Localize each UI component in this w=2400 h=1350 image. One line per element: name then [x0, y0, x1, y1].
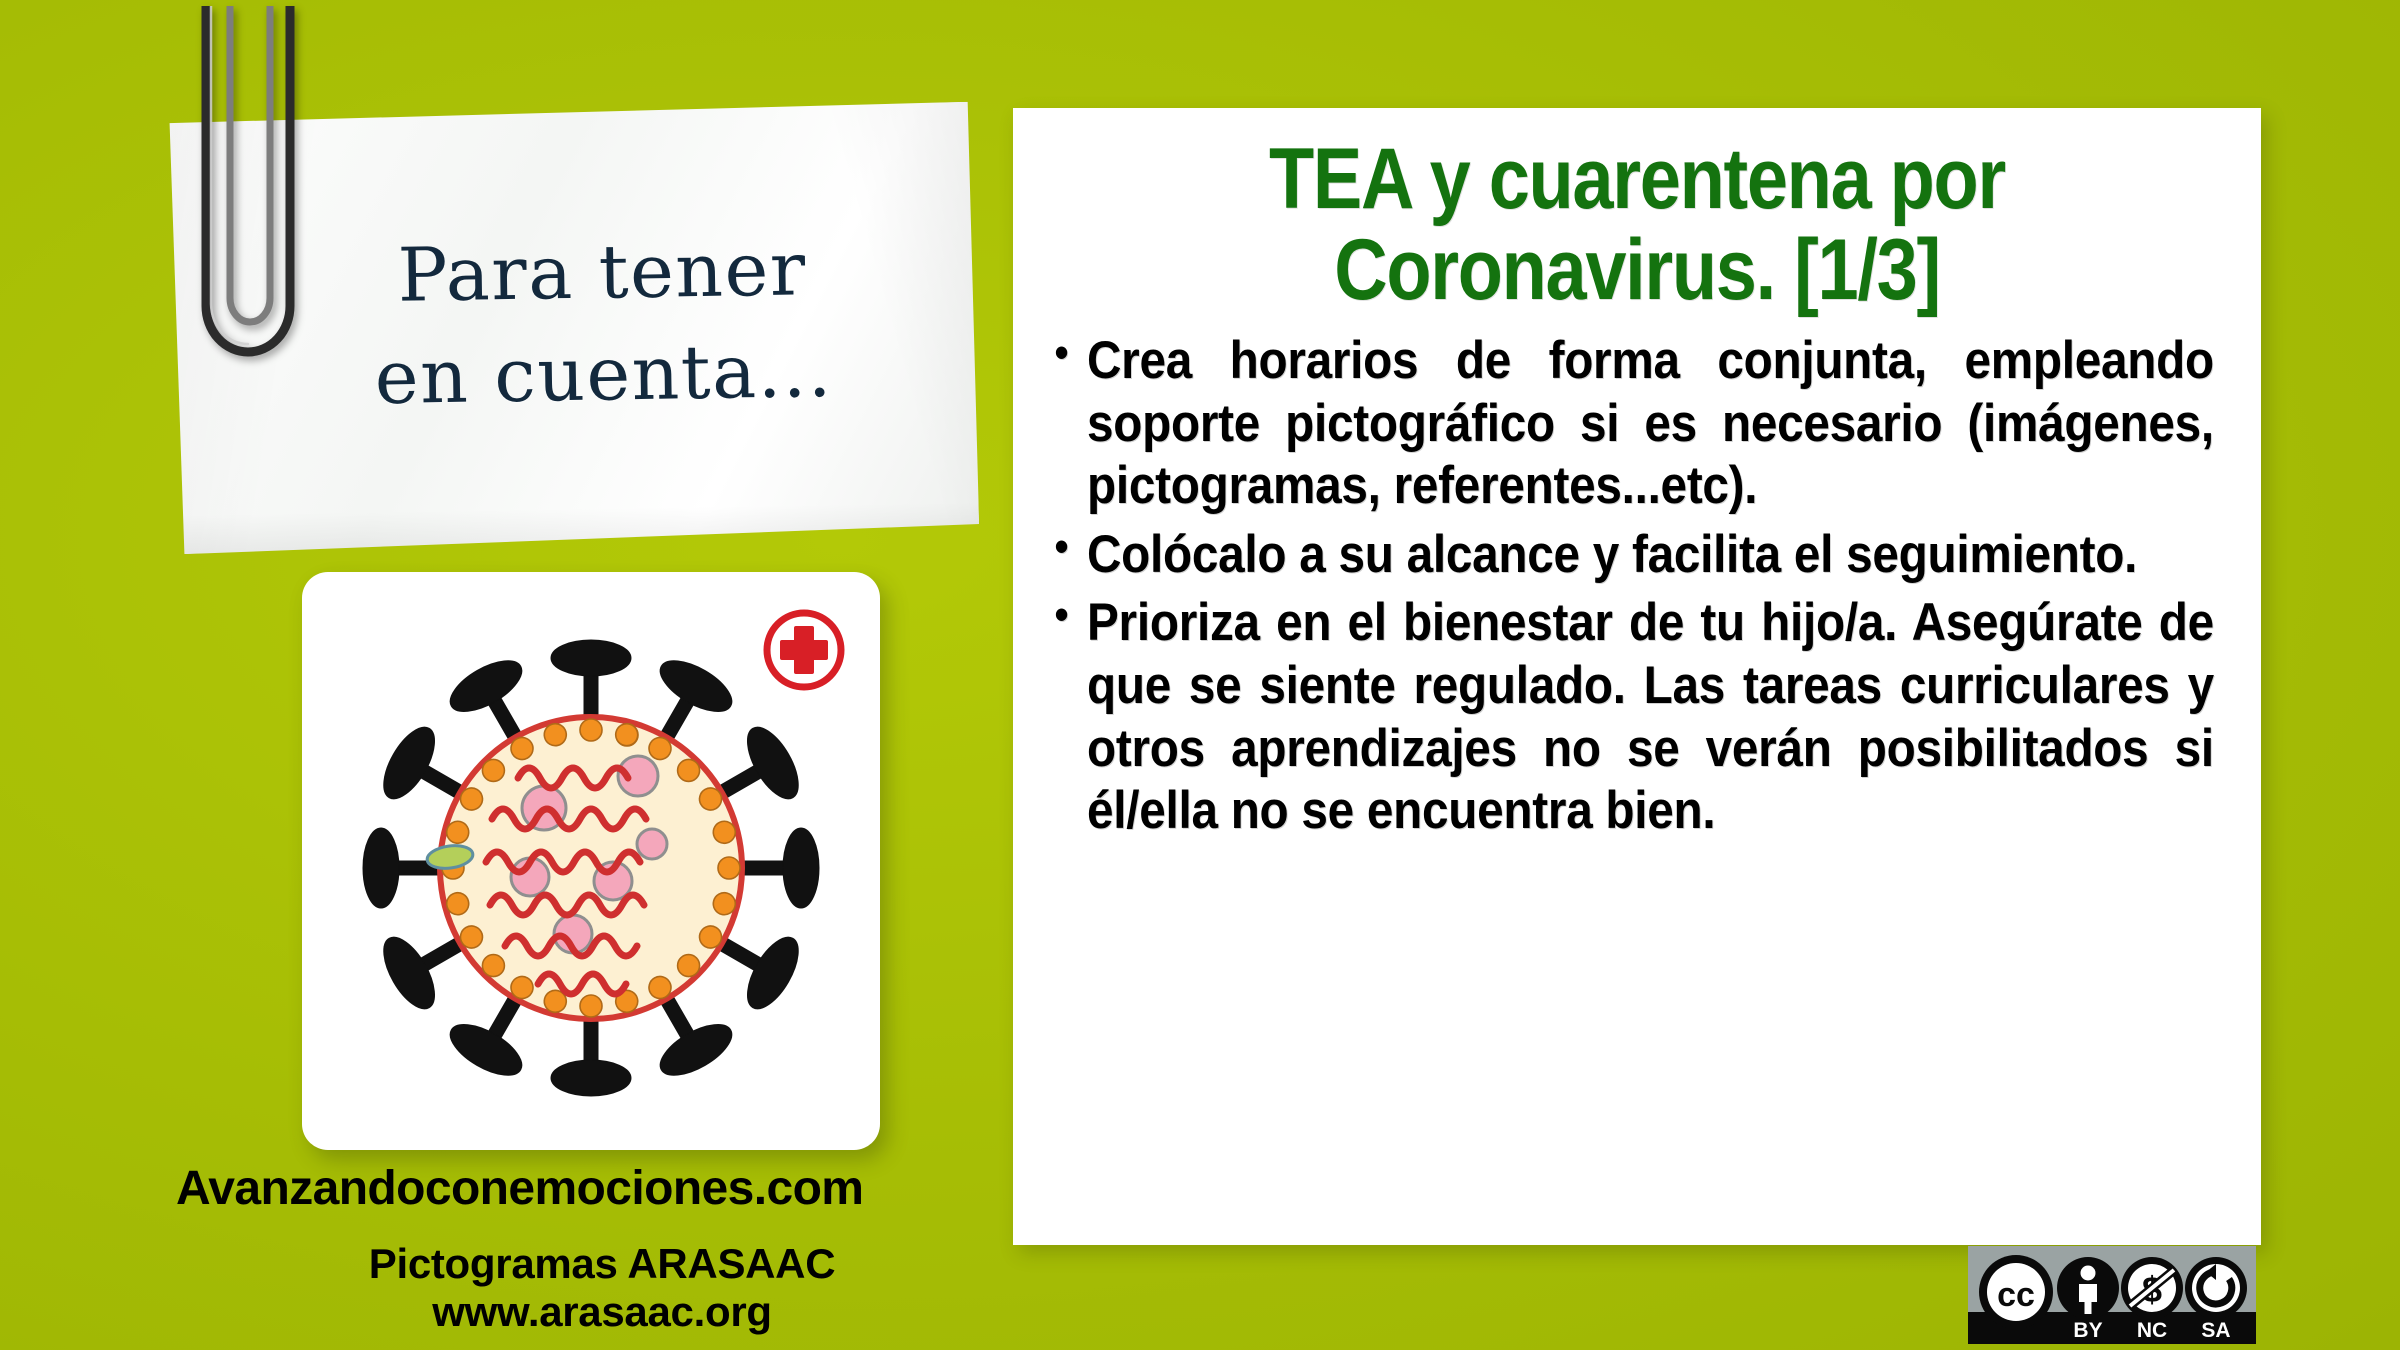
coronavirus-pictogram — [302, 572, 880, 1150]
slide-canvas: Para tener en cuenta... — [0, 0, 2400, 1350]
site-label: Avanzandoconemociones.com — [176, 1161, 863, 1216]
cc-license-icon: cc $ BY NC SA — [1968, 1246, 2256, 1344]
note-line-1: Para tener — [397, 218, 808, 327]
arasaac-line-1: Pictogramas ARASAAC — [252, 1240, 952, 1288]
cc-nc-label: NC — [2137, 1319, 2167, 1342]
paperclip-icon — [178, 6, 318, 406]
cc-glyph: cc — [1997, 1276, 2035, 1314]
cc-by-nc-sa-badge[interactable]: cc $ BY NC SA — [1968, 1246, 2256, 1344]
red-cross-icon — [767, 613, 841, 687]
page-title: TEA y cuarentena por Coronavirus. [1/3] — [1135, 134, 2139, 316]
cc-sa-label: SA — [2201, 1319, 2230, 1342]
list-item: Prioriza en el bienestar de tu hijo/a. A… — [1087, 592, 2214, 842]
coronavirus-pictogram-card — [302, 572, 880, 1150]
cc-by-label: BY — [2073, 1319, 2102, 1342]
arasaac-line-2: www.arasaac.org — [252, 1288, 952, 1336]
note-line-2: en cuenta... — [374, 320, 834, 429]
bullet-list: Crea horarios de forma conjunta, emplean… — [1053, 330, 2221, 842]
list-item: Colócalo a su alcance y facilita el segu… — [1087, 524, 2214, 587]
arasaac-attribution: Pictogramas ARASAAC www.arasaac.org — [252, 1240, 952, 1336]
list-item: Crea horarios de forma conjunta, emplean… — [1087, 330, 2214, 518]
content-panel: TEA y cuarentena por Coronavirus. [1/3] … — [1013, 108, 2261, 1245]
